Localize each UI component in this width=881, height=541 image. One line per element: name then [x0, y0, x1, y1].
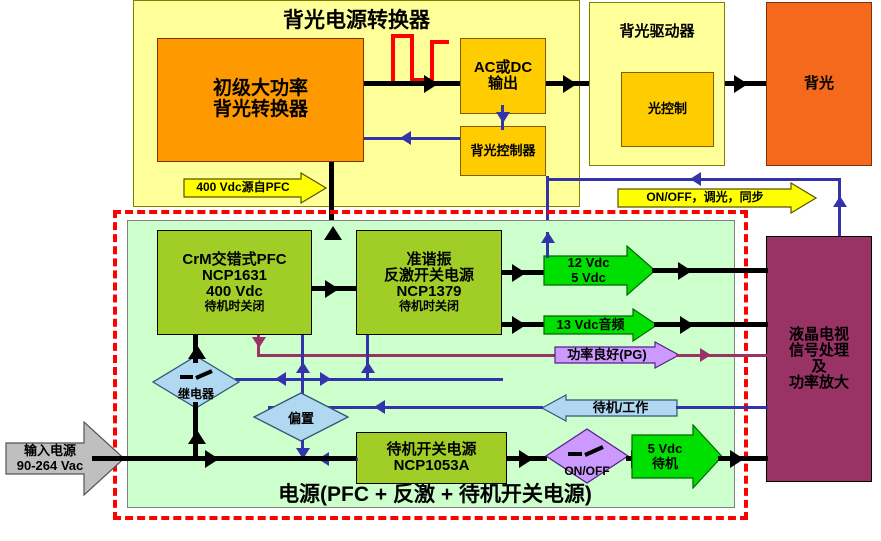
block-arrow-13v-audio-rail: 13 Vdc音频: [543, 308, 658, 342]
flyback-line3: NCP1379: [396, 284, 461, 300]
signal-line-standby-work-right: [676, 406, 768, 409]
lcd-tv-line2: 信号处理: [789, 343, 849, 359]
primary-converter-line1: 初级大功率: [213, 79, 308, 100]
arrowhead-12v-to-lcdtv: [678, 262, 692, 280]
ac-dc-output-line2: 输出: [488, 76, 518, 92]
arrowhead-relay-from-mains: [188, 430, 206, 444]
block-arrow-5v-standby: 5 Vdc 待机: [631, 424, 723, 489]
block-diagram-canvas: 背光电源转换器 背光驱动器 光控制 背光 初级大功率 背光转换器 AC或DC 输…: [0, 0, 881, 541]
arrowhead-standby-to-onoff: [519, 450, 533, 468]
lcd-tv-block: 液晶电视 信号处理 及 功率放大: [766, 236, 872, 482]
backlight-controller-label: 背光控制器: [470, 144, 535, 158]
arrowhead-mains-bus: [205, 450, 219, 468]
pfc-line3: 400 Vdc: [206, 284, 263, 300]
power-line-12v-to-lcdtv: [652, 268, 768, 273]
arrowhead-12v-sense: [541, 232, 555, 243]
signal-line-pg-to-lcdtv: [676, 354, 768, 357]
power-line-13v-to-lcdtv: [654, 322, 768, 327]
backlight-driver-label: 背光驱动器: [589, 20, 725, 41]
arrowhead-acdc-to-controller: [496, 112, 510, 123]
lcd-tv-line1: 液晶电视: [789, 327, 849, 343]
backlight-panel-title: 背光电源转换器: [133, 4, 580, 34]
arrowhead-bus-to-pfc: [296, 362, 310, 373]
block-arrow-standby-work: 待机/工作: [541, 394, 678, 422]
arrowhead-controller-to-converter: [400, 131, 411, 145]
square-waveform-icon: [390, 32, 452, 84]
light-control-block: 光控制: [621, 72, 714, 147]
block-arrow-power-good: 功率良好(PG): [554, 341, 680, 369]
block-arrow-400vdc-from-pfc: 400 Vdc源自PFC: [183, 172, 327, 204]
arrowhead-relay-up: [188, 345, 206, 359]
signal-line-controller-to-converter: [364, 137, 460, 140]
arrowhead-400vdc-riser: [324, 226, 342, 240]
primary-backlight-converter-block: 初级大功率 背光转换器: [157, 38, 364, 162]
arrowhead-to-backlight-controller: [690, 172, 701, 186]
arrowhead-pg-to-lcdtv: [700, 348, 711, 362]
standby-smps-block: 待机开关电源 NCP1053A: [356, 432, 507, 484]
arrowhead-bus-to-flyback: [361, 362, 375, 373]
pfc-block: CrM交错式PFC NCP1631 400 Vdc 待机时关闭: [157, 230, 312, 335]
arrowhead-converter-to-acdc: [424, 75, 438, 93]
light-control-label: 光控制: [648, 102, 687, 116]
pfc-line2: NCP1631: [202, 268, 267, 284]
primary-converter-line2: 背光转换器: [213, 100, 308, 121]
arrowhead-driver-to-backlight: [734, 75, 748, 93]
lcd-tv-line4: 功率放大: [789, 375, 849, 391]
arrowhead-standby-work-left: [374, 400, 385, 414]
arrowhead-flyback-to-12v: [512, 264, 526, 282]
pfc-line4: 待机时关闭: [204, 300, 264, 313]
arrowhead-13v-to-lcdtv: [680, 316, 694, 334]
power-line-mains-bus: [92, 456, 356, 461]
power-line-converter-to-acdc: [364, 81, 460, 86]
signal-line-bus-to-pfc: [301, 335, 304, 380]
standby-smps-line1: 待机开关电源: [386, 442, 476, 458]
lcd-tv-line3: 及: [811, 359, 826, 375]
relay-diamond: 继电器: [152, 355, 240, 409]
flyback-line1: 准谐振: [406, 252, 451, 268]
block-arrow-12v-5v-rail: 12 Vdc 5 Vdc: [543, 245, 656, 296]
ac-dc-output-line1: AC或DC: [474, 60, 532, 76]
flyback-line2: 反激开关电源: [384, 268, 474, 284]
backlight-controller-block: 背光控制器: [460, 126, 546, 176]
onoff-diamond: ON/OFF: [545, 428, 629, 484]
ac-dc-output-block: AC或DC 输出: [460, 38, 546, 114]
backlight-label: 背光: [804, 76, 834, 92]
arrowhead-5v-to-lcdtv: [730, 450, 744, 468]
bias-diamond: 偏置: [253, 392, 349, 442]
arrowhead-pfc-to-flyback: [325, 280, 339, 298]
signal-line-bus-to-flyback: [366, 335, 369, 380]
flyback-line4: 待机时关闭: [399, 300, 459, 313]
backlight-block: 背光: [766, 2, 872, 166]
arrowhead-lcdtv-riser: [833, 196, 847, 207]
arrowhead-bus-to-relay: [275, 372, 286, 386]
pfc-line1: CrM交错式PFC: [182, 252, 286, 268]
standby-smps-line2: NCP1053A: [394, 458, 470, 474]
flyback-block: 准谐振 反激开关电源 NCP1379 待机时关闭: [356, 230, 502, 335]
arrowhead-acdc-to-driver: [563, 75, 577, 93]
arrowhead-flyback-to-13v: [512, 316, 526, 334]
arrowhead-pg-from-pfc: [252, 337, 266, 348]
signal-line-lcdtv-riser: [838, 178, 841, 238]
arrowhead-bus-right-1: [320, 372, 331, 386]
